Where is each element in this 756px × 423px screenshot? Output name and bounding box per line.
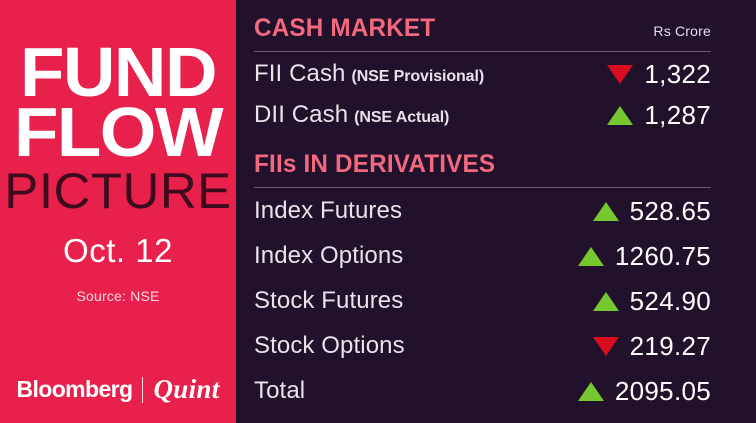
headline-block: FUND FLOW PICTURE (0, 42, 236, 217)
arrow-down-icon (607, 65, 633, 84)
row-value-group: 528.65 (593, 196, 711, 227)
table-row[interactable]: Stock Options 219.27 (254, 329, 711, 363)
table-row[interactable]: DII Cash (NSE Actual) 1,287 (254, 98, 711, 132)
table-row[interactable]: Stock Futures 524.90 (254, 284, 711, 318)
row-value-group: 1260.75 (578, 241, 711, 272)
row-label-text: Index Futures (254, 197, 402, 225)
row-label-text: Total (254, 377, 305, 405)
arrow-up-icon (593, 202, 619, 221)
section-header-fiis-in-derivatives: FIIs IN DERIVATIVES (254, 150, 711, 179)
row-label-index-futures: Index Futures (254, 197, 402, 225)
source-label: Source: NSE (0, 288, 236, 304)
row-label-index-options: Index Options (254, 242, 403, 270)
logo-quint-text: Quint (153, 376, 219, 403)
row-value-group: 1,322 (607, 59, 711, 90)
section-title-fiis-in-derivatives: FIIs IN DERIVATIVES (254, 150, 495, 179)
arrow-up-icon (578, 382, 604, 401)
row-label-text: Stock Futures (254, 287, 403, 315)
row-label-text: DII Cash (254, 101, 348, 129)
title-panel: FUND FLOW PICTURE Oct. 12 Source: NSE Bl… (0, 0, 236, 423)
table-row[interactable]: FII Cash (NSE Provisional) 1,322 (254, 57, 711, 91)
row-label-text: Index Options (254, 242, 403, 270)
row-value-group: 1,287 (607, 100, 711, 131)
fund-flow-picture-card: FUND FLOW PICTURE Oct. 12 Source: NSE Bl… (0, 0, 756, 423)
headline-line-3: PICTURE (0, 166, 238, 217)
table-row[interactable]: Index Options 1260.75 (254, 239, 711, 273)
section-title-cash-market: CASH MARKET (254, 14, 435, 43)
logo-divider (142, 377, 143, 403)
row-value-fii-cash: 1,322 (644, 59, 711, 90)
row-label-fii-cash: FII Cash (NSE Provisional) (254, 60, 484, 88)
row-label-sub: (NSE Actual) (354, 109, 449, 127)
section-rule-fiis-in-derivatives (254, 187, 711, 188)
date-label: Oct. 12 (0, 232, 236, 270)
arrow-up-icon (578, 247, 604, 266)
row-label-text: FII Cash (254, 60, 346, 88)
row-value-total: 2095.05 (615, 376, 711, 407)
row-label-sub: (NSE Provisional) (352, 68, 485, 86)
row-value-stock-options: 219.27 (630, 331, 711, 362)
row-value-group: 2095.05 (578, 376, 711, 407)
row-value-dii-cash: 1,287 (644, 100, 711, 131)
arrow-up-icon (607, 106, 633, 125)
row-label-stock-futures: Stock Futures (254, 287, 403, 315)
row-value-group: 524.90 (593, 286, 711, 317)
unit-label: Rs Crore (653, 23, 711, 39)
arrow-down-icon (593, 337, 619, 356)
row-value-group: 219.27 (593, 331, 711, 362)
data-panel: CASH MARKET Rs Crore FII Cash (NSE Provi… (236, 0, 756, 423)
logo-bloomberg-text: Bloomberg (16, 378, 132, 401)
row-value-index-options: 1260.75 (615, 241, 711, 272)
table-row[interactable]: Index Futures 528.65 (254, 194, 711, 228)
headline-line-2: FLOW (0, 102, 241, 162)
section-header-cash-market: CASH MARKET Rs Crore (254, 14, 711, 43)
row-value-index-futures: 528.65 (630, 196, 711, 227)
row-value-stock-futures: 524.90 (630, 286, 711, 317)
table-row[interactable]: Total 2095.05 (254, 374, 711, 408)
section-rule-cash-market (254, 51, 711, 52)
bloombergquint-logo: Bloomberg Quint (0, 376, 236, 403)
row-label-text: Stock Options (254, 332, 405, 360)
arrow-up-icon (593, 292, 619, 311)
row-label-stock-options: Stock Options (254, 332, 405, 360)
row-label-dii-cash: DII Cash (NSE Actual) (254, 101, 449, 129)
row-label-total: Total (254, 377, 305, 405)
